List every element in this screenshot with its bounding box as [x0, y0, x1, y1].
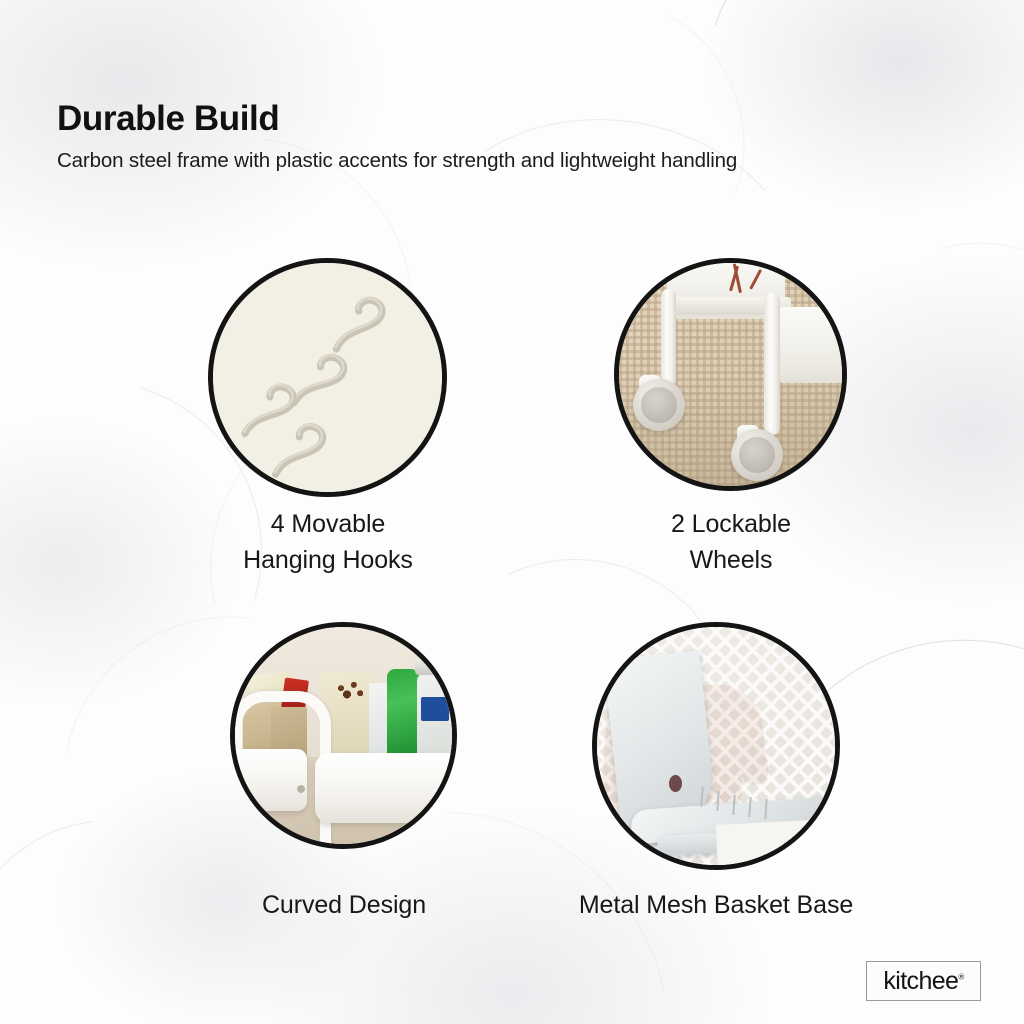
cart-leg-left — [661, 289, 676, 387]
page-title: Durable Build — [57, 100, 957, 139]
feature-caption-wheels: 2 Lockable Wheels — [600, 507, 862, 578]
caster-wheel-left — [633, 379, 685, 431]
caster-hub — [739, 437, 774, 472]
feature-image-hooks — [208, 258, 447, 497]
feature-caption-mesh-basket: Metal Mesh Basket Base — [570, 888, 862, 924]
trademark-mark: ® — [958, 972, 963, 981]
brand-logo-text: kitchee® — [883, 969, 963, 994]
page-subtitle: Carbon steel frame with plastic accents … — [57, 148, 957, 174]
feature-image-mesh-basket — [592, 622, 840, 870]
mesh-basket-photo — [597, 627, 835, 865]
header-block: Durable Build Carbon steel frame with pl… — [57, 100, 957, 173]
can-cap — [415, 661, 445, 675]
caster-wheel-right — [731, 429, 783, 481]
infographic-page: Durable Build Carbon steel frame with pl… — [0, 0, 1024, 1024]
cart-leg-right — [764, 293, 780, 435]
cocoa-graphic — [329, 677, 369, 705]
curved-design-photo — [235, 627, 452, 844]
cart-side-panel — [779, 307, 847, 383]
brand-logo: kitchee® — [866, 961, 981, 1001]
caster-hub — [641, 387, 676, 422]
basket-front-rail-left — [230, 749, 307, 811]
basket-front-rail-right — [315, 753, 457, 823]
feature-caption-curved-design: Curved Design — [213, 888, 475, 924]
green-bottle — [387, 669, 419, 757]
feature-image-wheels — [614, 258, 847, 491]
basket-drain-hole — [669, 775, 682, 792]
hooks-photo — [213, 263, 442, 492]
background-corner — [716, 817, 840, 870]
feature-caption-hooks: 4 Movable Hanging Hooks — [183, 507, 473, 578]
rail-screw — [297, 785, 305, 793]
wheels-photo — [619, 263, 842, 486]
feature-image-curved-design — [230, 622, 457, 849]
can-blue-label — [421, 697, 449, 721]
